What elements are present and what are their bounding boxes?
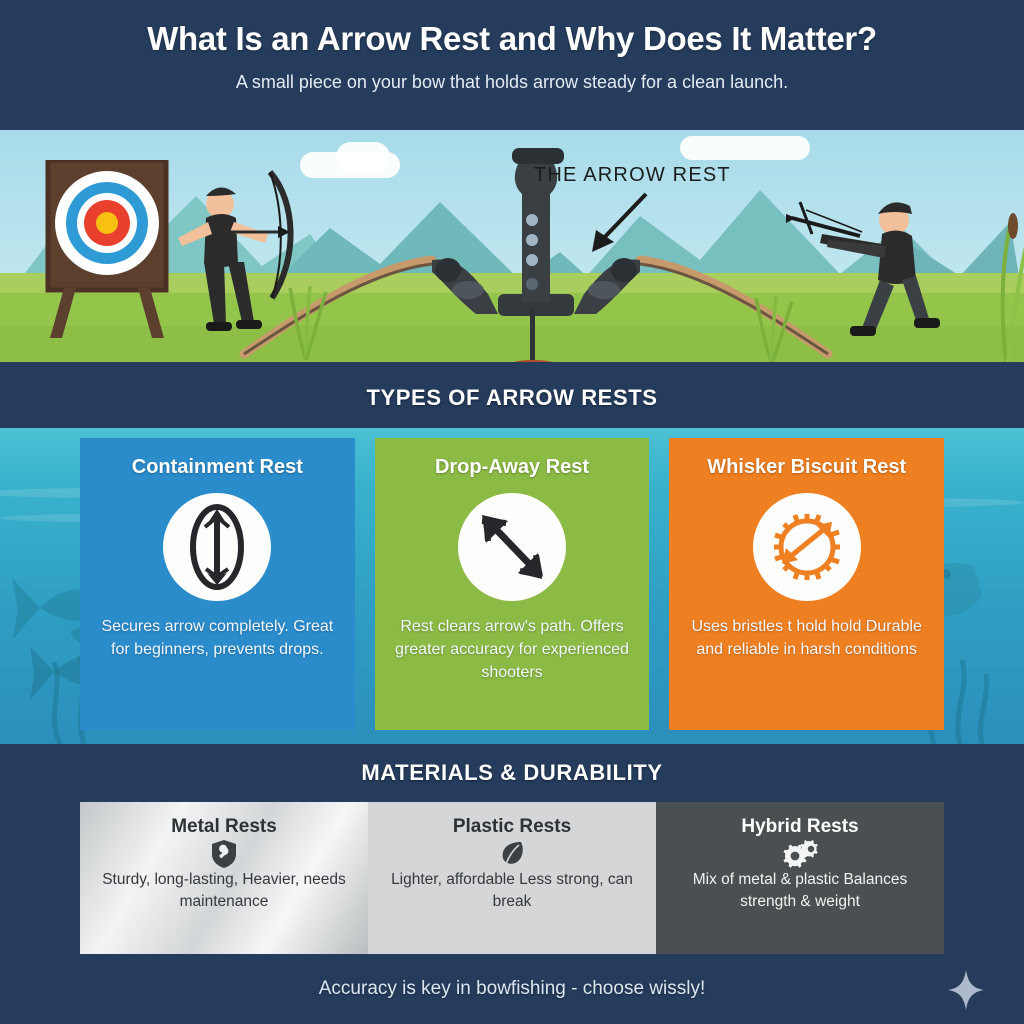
card-description: Secures arrow completely. Great for begi… (94, 615, 341, 661)
types-section-banner: TYPES OF ARROW RESTS (0, 368, 1024, 428)
type-card-whisker-biscuit[interactable]: Whisker Biscuit Rest (669, 438, 944, 730)
reed-plant-icon (986, 212, 1024, 362)
diagonal-arrow-icon (472, 507, 552, 587)
leaf-icon (499, 840, 525, 868)
card-title: Containment Rest (132, 456, 303, 479)
card-description: Rest clears arrow's path. Offers greater… (389, 615, 636, 685)
material-description: Sturdy, long-lasting, Heavier, needs mai… (90, 869, 358, 912)
card-description: Uses bristles t hold hold Durable and re… (683, 615, 930, 661)
material-panel-hybrid[interactable]: Hybrid Rests Mix of metal & plastic Bala… (656, 802, 944, 954)
type-card-drop-away[interactable]: Drop-Away Rest Rest clears arrow's path.… (375, 438, 650, 730)
card-title: Drop-Away Rest (435, 456, 589, 479)
grass-tuft-icon (276, 280, 336, 360)
header: What Is an Arrow Rest and Why Does It Ma… (0, 0, 1024, 130)
material-icon-wrap (499, 841, 525, 867)
callout-arrow-icon (584, 190, 654, 256)
archery-target-icon (40, 160, 180, 340)
material-icon-wrap (211, 841, 237, 867)
type-cards-row: Containment Rest Secures arrow completel… (0, 428, 1024, 744)
shield-wrench-icon (211, 839, 237, 869)
type-card-containment[interactable]: Containment Rest Secures arrow completel… (80, 438, 355, 730)
card-icon-wrap (753, 493, 861, 601)
materials-section-banner: MATERIALS & DURABILITY (0, 744, 1024, 802)
material-title: Hybrid Rests (741, 816, 858, 838)
footer: Accuracy is key in bowfishing - choose w… (0, 954, 1024, 1024)
card-icon-wrap (458, 493, 566, 601)
material-panel-plastic[interactable]: Plastic Rests Lighter, affordable Less s… (368, 802, 656, 954)
four-point-sparkle-icon (946, 968, 986, 1012)
material-description: Mix of metal & plastic Balances strength… (666, 869, 934, 912)
bristle-ring-arrow-icon (764, 504, 850, 590)
bowfisher-icon (782, 180, 962, 360)
materials-section: Metal Rests Sturdy, long-lasting, Heavie… (0, 802, 1024, 954)
hero-bottom-border (0, 362, 1024, 368)
hero-illustration: THE ARROW REST (0, 130, 1024, 368)
material-description: Lighter, affordable Less strong, can bre… (378, 869, 646, 912)
material-panel-metal[interactable]: Metal Rests Sturdy, long-lasting, Heavie… (80, 802, 368, 954)
page-subtitle: A small piece on your bow that holds arr… (0, 72, 1024, 93)
two-gears-icon (782, 840, 818, 868)
card-title: Whisker Biscuit Rest (707, 456, 906, 479)
arrow-rest-callout-label: THE ARROW REST (534, 164, 731, 187)
page-title: What Is an Arrow Rest and Why Does It Ma… (0, 20, 1024, 58)
footer-tagline: Accuracy is key in bowfishing - choose w… (319, 978, 705, 1000)
types-section: Containment Rest Secures arrow completel… (0, 428, 1024, 744)
arrow-in-ring-icon (175, 501, 259, 593)
material-title: Metal Rests (171, 816, 277, 838)
card-icon-wrap (163, 493, 271, 601)
material-title: Plastic Rests (453, 816, 571, 838)
material-icon-wrap (782, 841, 818, 867)
grass-tuft-icon (744, 290, 800, 364)
